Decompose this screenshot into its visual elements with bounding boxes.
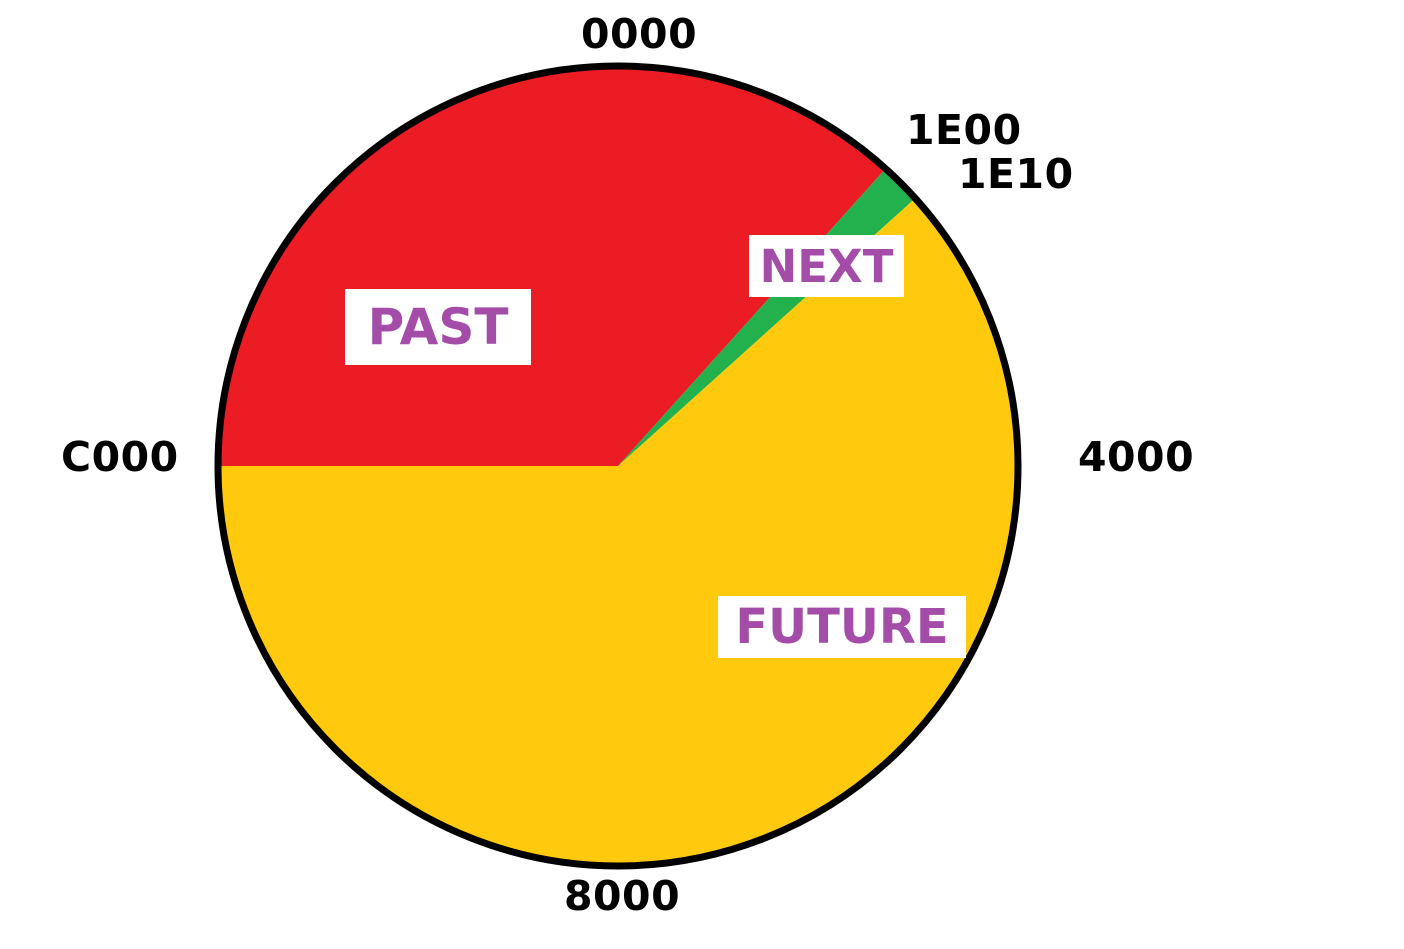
tick-label-0000: 0000	[581, 14, 697, 55]
tick-label-c000: C000	[61, 437, 179, 478]
diagram-canvas: 0000 1E00 1E10 4000 8000 C000 PAST NEXT …	[0, 0, 1404, 949]
tick-label-4000: 4000	[1078, 437, 1194, 478]
segment-label-next: NEXT	[749, 235, 904, 297]
segment-label-past: PAST	[345, 289, 531, 365]
tick-label-8000: 8000	[564, 876, 680, 917]
segment-label-future: FUTURE	[718, 596, 966, 658]
tick-label-1e10: 1E10	[958, 154, 1074, 195]
tick-label-1e00: 1E00	[906, 110, 1022, 151]
